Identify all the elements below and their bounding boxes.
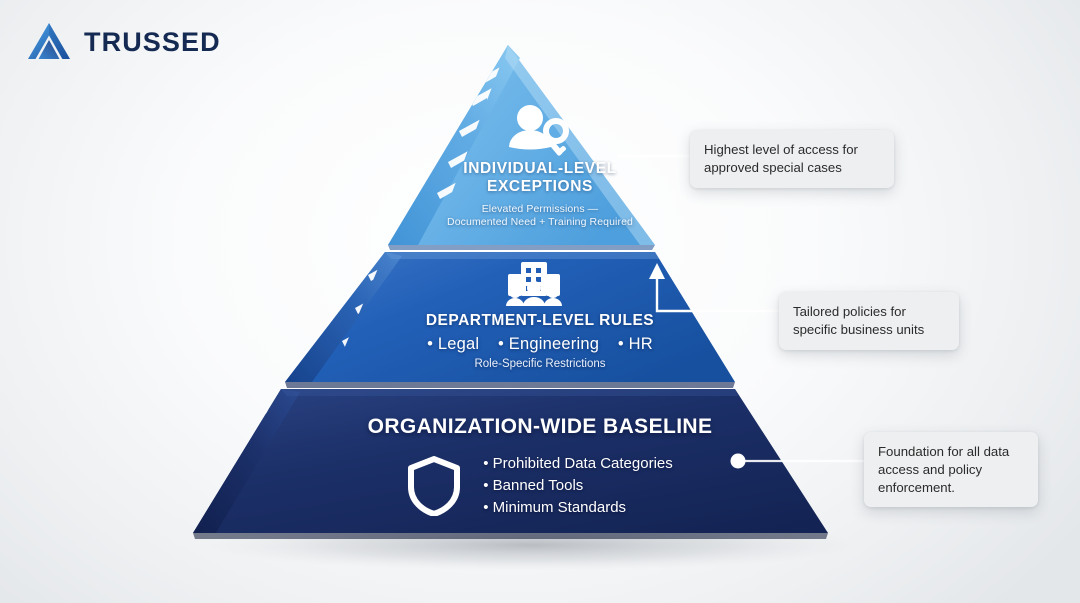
infographic-canvas: TRUSSED (0, 0, 1080, 603)
callout-organization[interactable]: Foundation for all data access and polic… (864, 432, 1038, 507)
callout-individual[interactable]: Highest level of access for approved spe… (690, 130, 894, 188)
pyramid-tier-department[interactable] (285, 252, 735, 388)
callout-department[interactable]: Tailored policies for specific business … (779, 292, 959, 350)
